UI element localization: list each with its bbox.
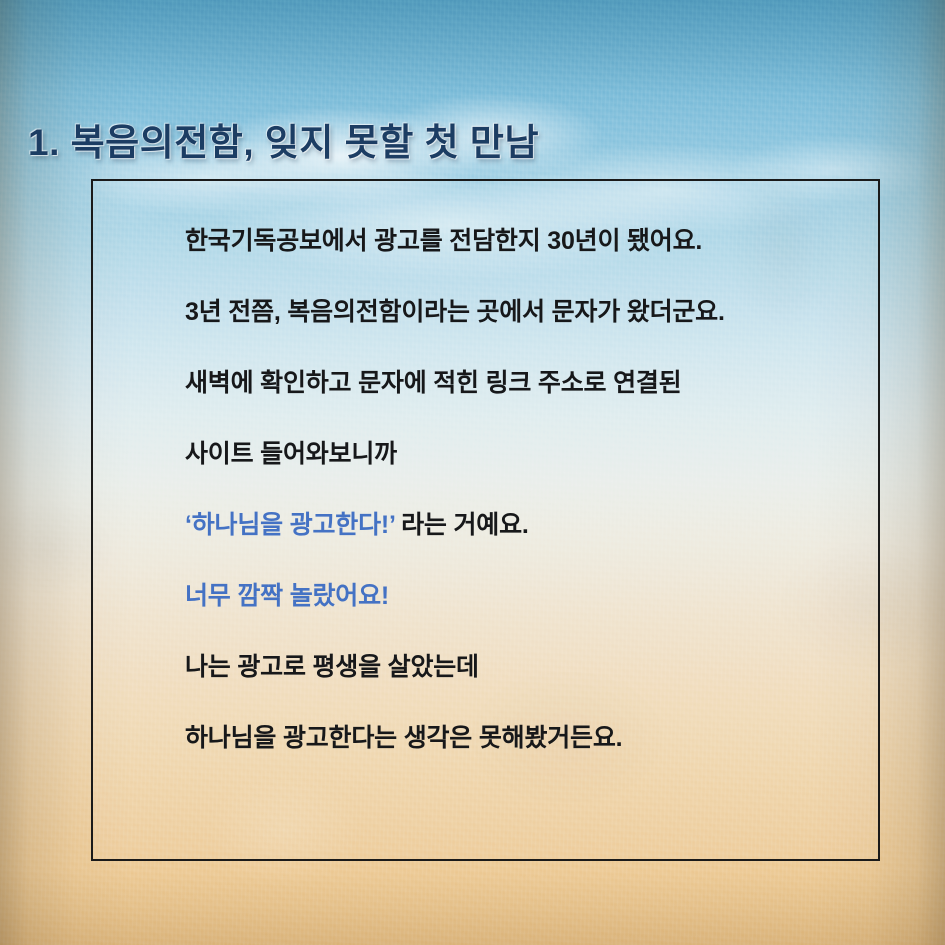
content-box: 한국기독공보에서 광고를 전담한지 30년이 됐어요.3년 전쯤, 복음의전함이… <box>91 179 880 861</box>
body-line: 3년 전쯤, 복음의전함이라는 곳에서 문자가 왔더군요. <box>185 300 858 371</box>
slide-canvas: 1. 복음의전함, 잊지 못할 첫 만남 한국기독공보에서 광고를 전담한지 3… <box>0 0 945 945</box>
body-text-accent: 너무 깜짝 놀랐어요! <box>185 582 389 610</box>
body-text-plain: 사이트 들어와보니까 <box>185 440 397 468</box>
body-text-plain: 3년 전쯤, 복음의전함이라는 곳에서 문자가 왔더군요. <box>185 298 725 326</box>
body-text-plain: 새벽에 확인하고 문자에 적힌 링크 주소로 연결된 <box>185 369 681 397</box>
body-text-plain: 나는 광고로 평생을 살았는데 <box>185 653 479 681</box>
body-text-plain: 라는 거예요. <box>395 511 529 539</box>
body-line: 하나님을 광고한다는 생각은 못해봤거든요. <box>185 726 858 797</box>
body-line: 한국기독공보에서 광고를 전담한지 30년이 됐어요. <box>185 229 858 300</box>
body-line: 나는 광고로 평생을 살았는데 <box>185 655 858 726</box>
slide-title: 1. 복음의전함, 잊지 못할 첫 만남 <box>28 112 539 166</box>
body-line: ‘하나님을 광고한다!’ 라는 거예요. <box>185 513 858 584</box>
body-text-plain: 하나님을 광고한다는 생각은 못해봤거든요. <box>185 724 622 752</box>
body-text-plain: 한국기독공보에서 광고를 전담한지 30년이 됐어요. <box>185 227 702 255</box>
body-text-block: 한국기독공보에서 광고를 전담한지 30년이 됐어요.3년 전쯤, 복음의전함이… <box>185 229 858 797</box>
body-line: 너무 깜짝 놀랐어요! <box>185 584 858 655</box>
body-line: 새벽에 확인하고 문자에 적힌 링크 주소로 연결된 <box>185 371 858 442</box>
body-line: 사이트 들어와보니까 <box>185 442 858 513</box>
body-text-accent: ‘하나님을 광고한다!’ <box>185 511 395 539</box>
